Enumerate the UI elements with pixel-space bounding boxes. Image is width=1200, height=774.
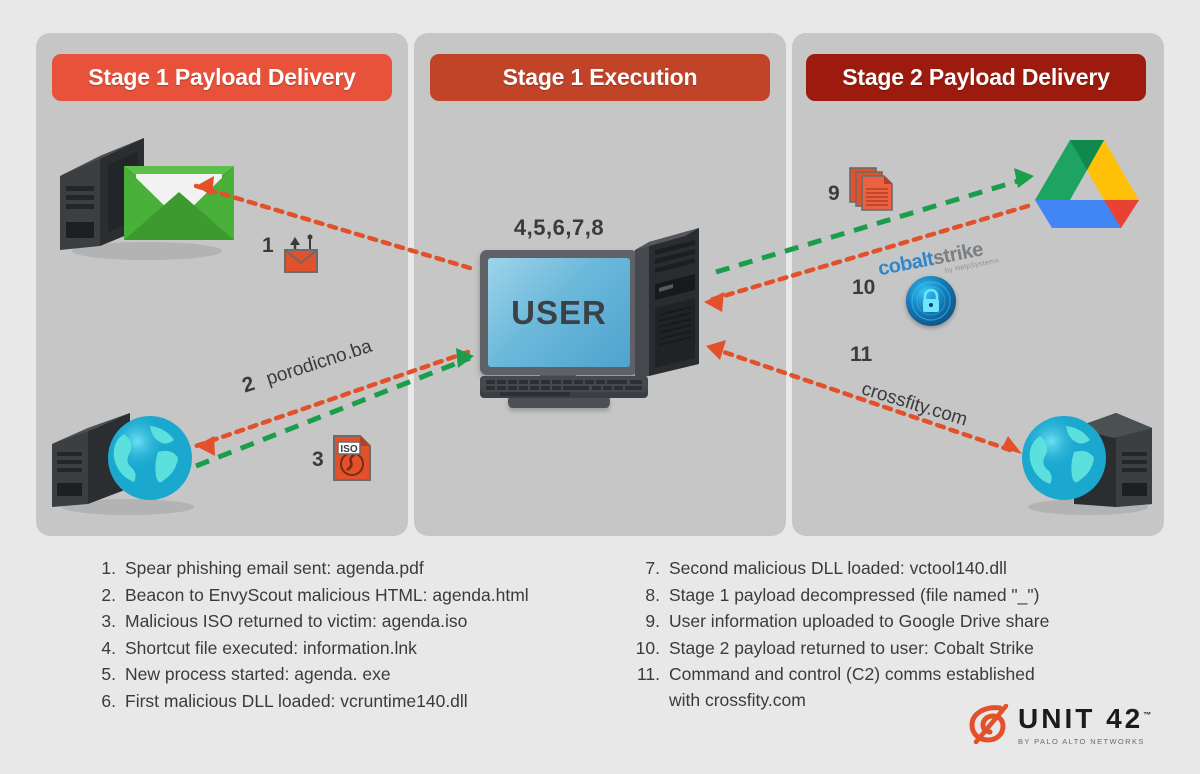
- legend-item-text: Stage 1 payload decompressed (file named…: [669, 583, 1100, 609]
- phishing-email-node: [282, 234, 322, 279]
- legend-item-text: Stage 2 payload returned to user: Cobalt…: [669, 636, 1100, 662]
- unit42-text: UNIT 42™ BY PALO ALTO NETWORKS: [1018, 705, 1151, 746]
- legend-item-number: 8.: [630, 583, 660, 609]
- marker-1-number: 1: [262, 234, 274, 258]
- legend-item: 1.Spear phishing email sent: agenda.pdf: [86, 556, 626, 582]
- legend-item-text: Beacon to EnvyScout malicious HTML: agen…: [125, 583, 626, 609]
- iso-file-icon: ISO: [330, 432, 374, 484]
- legend-item-number: 6.: [86, 689, 116, 715]
- legend-item: 9.User information uploaded to Google Dr…: [630, 609, 1100, 635]
- legend-column-left: 1.Spear phishing email sent: agenda.pdf …: [86, 556, 626, 715]
- legend-column-right: 7.Second malicious DLL loaded: vctool140…: [630, 556, 1100, 714]
- legend-item-text: First malicious DLL loaded: vcruntime140…: [125, 689, 626, 715]
- mail-server-node: [52, 128, 242, 268]
- documents-node: [848, 164, 896, 219]
- marker-11-number: 11: [850, 343, 872, 367]
- iso-file-node: ISO: [330, 432, 374, 489]
- lock-icon: [906, 276, 956, 326]
- user-steps-label: 4,5,6,7,8: [480, 215, 638, 241]
- web-server-globe-icon: [46, 408, 211, 518]
- google-drive-node: [1035, 136, 1139, 235]
- legend-item-number: 5.: [86, 662, 116, 688]
- user-label: USER: [511, 294, 607, 332]
- legend-item-number: 3.: [86, 609, 116, 635]
- legend-item: 10.Stage 2 payload returned to user: Cob…: [630, 636, 1100, 662]
- legend-item: 6.First malicious DLL loaded: vcruntime1…: [86, 689, 626, 715]
- legend-item-number: 9.: [630, 609, 660, 635]
- legend-item-text: User information uploaded to Google Driv…: [669, 609, 1100, 635]
- legend-item-text: Second malicious DLL loaded: vctool140.d…: [669, 556, 1100, 582]
- legend-item-number: 11.: [630, 662, 660, 713]
- legend-item: 3.Malicious ISO returned to victim: agen…: [86, 609, 626, 635]
- keyboard-icon: [480, 372, 648, 402]
- iso-file-type: ISO: [340, 444, 357, 455]
- marker-10-number: 10: [852, 276, 875, 300]
- marker-9-number: 9: [828, 182, 840, 206]
- stage-1-payload-delivery-header: Stage 1 Payload Delivery: [52, 54, 392, 101]
- legend-item: 8.Stage 1 payload decompressed (file nam…: [630, 583, 1100, 609]
- mail-server-icon: [52, 128, 242, 263]
- web-server-node-left: [46, 408, 211, 523]
- legend-item-text: New process started: agenda. exe: [125, 662, 626, 688]
- legend-item-number: 10.: [630, 636, 660, 662]
- monitor-screen: USER: [488, 258, 630, 367]
- legend-item-text: Malicious ISO returned to victim: agenda…: [125, 609, 626, 635]
- legend-item-text: Spear phishing email sent: agenda.pdf: [125, 556, 626, 582]
- web-server-globe-icon-right: [1018, 408, 1158, 518]
- unit42-mark-icon: [966, 704, 1010, 746]
- cobalt-strike-lock-badge: [906, 276, 956, 326]
- legend-item-line1: Command and control (C2) comms establish…: [669, 664, 1035, 684]
- unit42-trademark: ™: [1143, 710, 1151, 719]
- marker-3-number: 3: [312, 448, 324, 472]
- stage-1-execution-header: Stage 1 Execution: [430, 54, 770, 101]
- legend-item: 7.Second malicious DLL loaded: vctool140…: [630, 556, 1100, 582]
- user-monitor: USER: [480, 250, 638, 375]
- stage-2-payload-delivery-header: Stage 2 Payload Delivery: [806, 54, 1146, 101]
- legend-item: 2.Beacon to EnvyScout malicious HTML: ag…: [86, 583, 626, 609]
- legend-item: 4.Shortcut file executed: information.ln…: [86, 636, 626, 662]
- unit42-title-text: UNIT 42: [1018, 703, 1143, 734]
- unit42-title: UNIT 42™: [1018, 705, 1151, 733]
- documents-icon: [848, 164, 896, 214]
- unit42-logo: UNIT 42™ BY PALO ALTO NETWORKS: [966, 702, 1156, 748]
- legend-item: 5.New process started: agenda. exe: [86, 662, 626, 688]
- google-drive-icon: [1035, 136, 1139, 230]
- monitor-frame: USER: [480, 250, 638, 375]
- legend-item-number: 7.: [630, 556, 660, 582]
- legend-item-number: 4.: [86, 636, 116, 662]
- legend-item-number: 1.: [86, 556, 116, 582]
- web-server-node-right: [1018, 408, 1158, 523]
- unit42-subtitle: BY PALO ALTO NETWORKS: [1018, 737, 1151, 746]
- legend-item-text: Shortcut file executed: information.lnk: [125, 636, 626, 662]
- phishing-email-icon: [282, 234, 322, 274]
- pc-tower-icon: [635, 228, 703, 378]
- legend-item-number: 2.: [86, 583, 116, 609]
